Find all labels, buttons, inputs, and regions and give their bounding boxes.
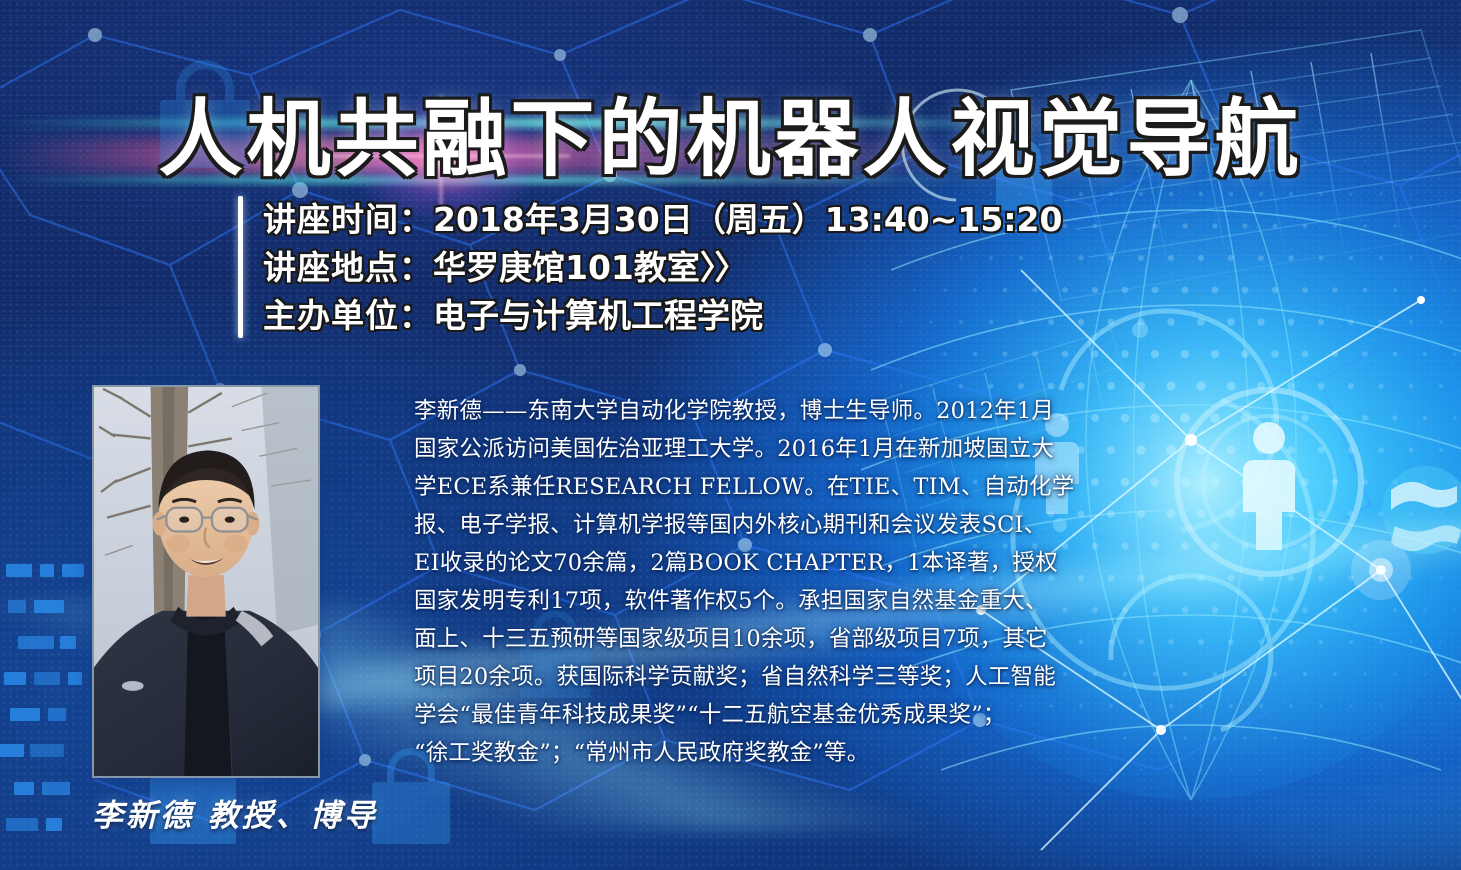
bio-line: 报、电子学报、计算机学报等国内外核心期刊和会议发表SCI、: [414, 506, 1094, 544]
info-label-time: 讲座时间：: [263, 200, 433, 239]
info-value-time: 2018年3月30日（周五）13:40~15:20: [433, 200, 1062, 239]
info-label-location: 讲座地点：: [263, 248, 433, 287]
speaker-photo: [92, 385, 320, 778]
seminar-poster: 人机共融下的机器人视觉导航 讲座时间：2018年3月30日（周五）13:40~1…: [0, 0, 1461, 870]
chevron-right-icon[interactable]: 〉〉: [700, 248, 746, 287]
info-row-location: 讲座地点：华罗庚馆101教室〉〉: [263, 246, 1062, 290]
page-title: 人机共融下的机器人视觉导航: [0, 72, 1461, 193]
bio-line: 学ECE系兼任RESEARCH FELLOW。在TIE、TIM、自动化学: [414, 468, 1094, 506]
bio-line: 李新德——东南大学自动化学院教授，博士生导师。2012年1月: [414, 392, 1094, 430]
speaker-bio: 李新德——东南大学自动化学院教授，博士生导师。2012年1月 国家公派访问美国佐…: [414, 392, 1094, 772]
speaker-portrait-illustration: [94, 387, 318, 776]
speaker-caption: 李新德 教授、博导: [92, 790, 422, 835]
bio-line: 学会“最佳青年科技成果奖”“十二五航空基金优秀成果奖”；: [414, 696, 1094, 734]
info-label-organizer: 主办单位：: [263, 296, 433, 335]
bio-line: 项目20余项。获国际科学贡献奖；省自然科学三等奖；人工智能: [414, 658, 1094, 696]
seminar-info-block: 讲座时间：2018年3月30日（周五）13:40~15:20 讲座地点：华罗庚馆…: [238, 196, 1062, 338]
info-row-organizer: 主办单位：电子与计算机工程学院: [263, 294, 1062, 338]
bio-line: “徐工奖教金”；“常州市人民政府奖教金”等。: [414, 734, 1094, 772]
info-value-organizer: 电子与计算机工程学院: [433, 296, 763, 335]
info-accent-bar: [238, 196, 243, 338]
bio-line: 国家发明专利17项，软件著作权5个。承担国家自然基金重大、: [414, 582, 1094, 620]
bio-line: 面上、十三五预研等国家级项目10余项，省部级项目7项，其它: [414, 620, 1094, 658]
bio-line: 国家公派访问美国佐治亚理工大学。2016年1月在新加坡国立大: [414, 430, 1094, 468]
info-row-time: 讲座时间：2018年3月30日（周五）13:40~15:20: [263, 198, 1062, 242]
bio-line: EI收录的论文70余篇，2篇BOOK CHAPTER，1本译著，授权: [414, 544, 1094, 582]
info-value-location: 华罗庚馆101教室: [433, 248, 700, 287]
